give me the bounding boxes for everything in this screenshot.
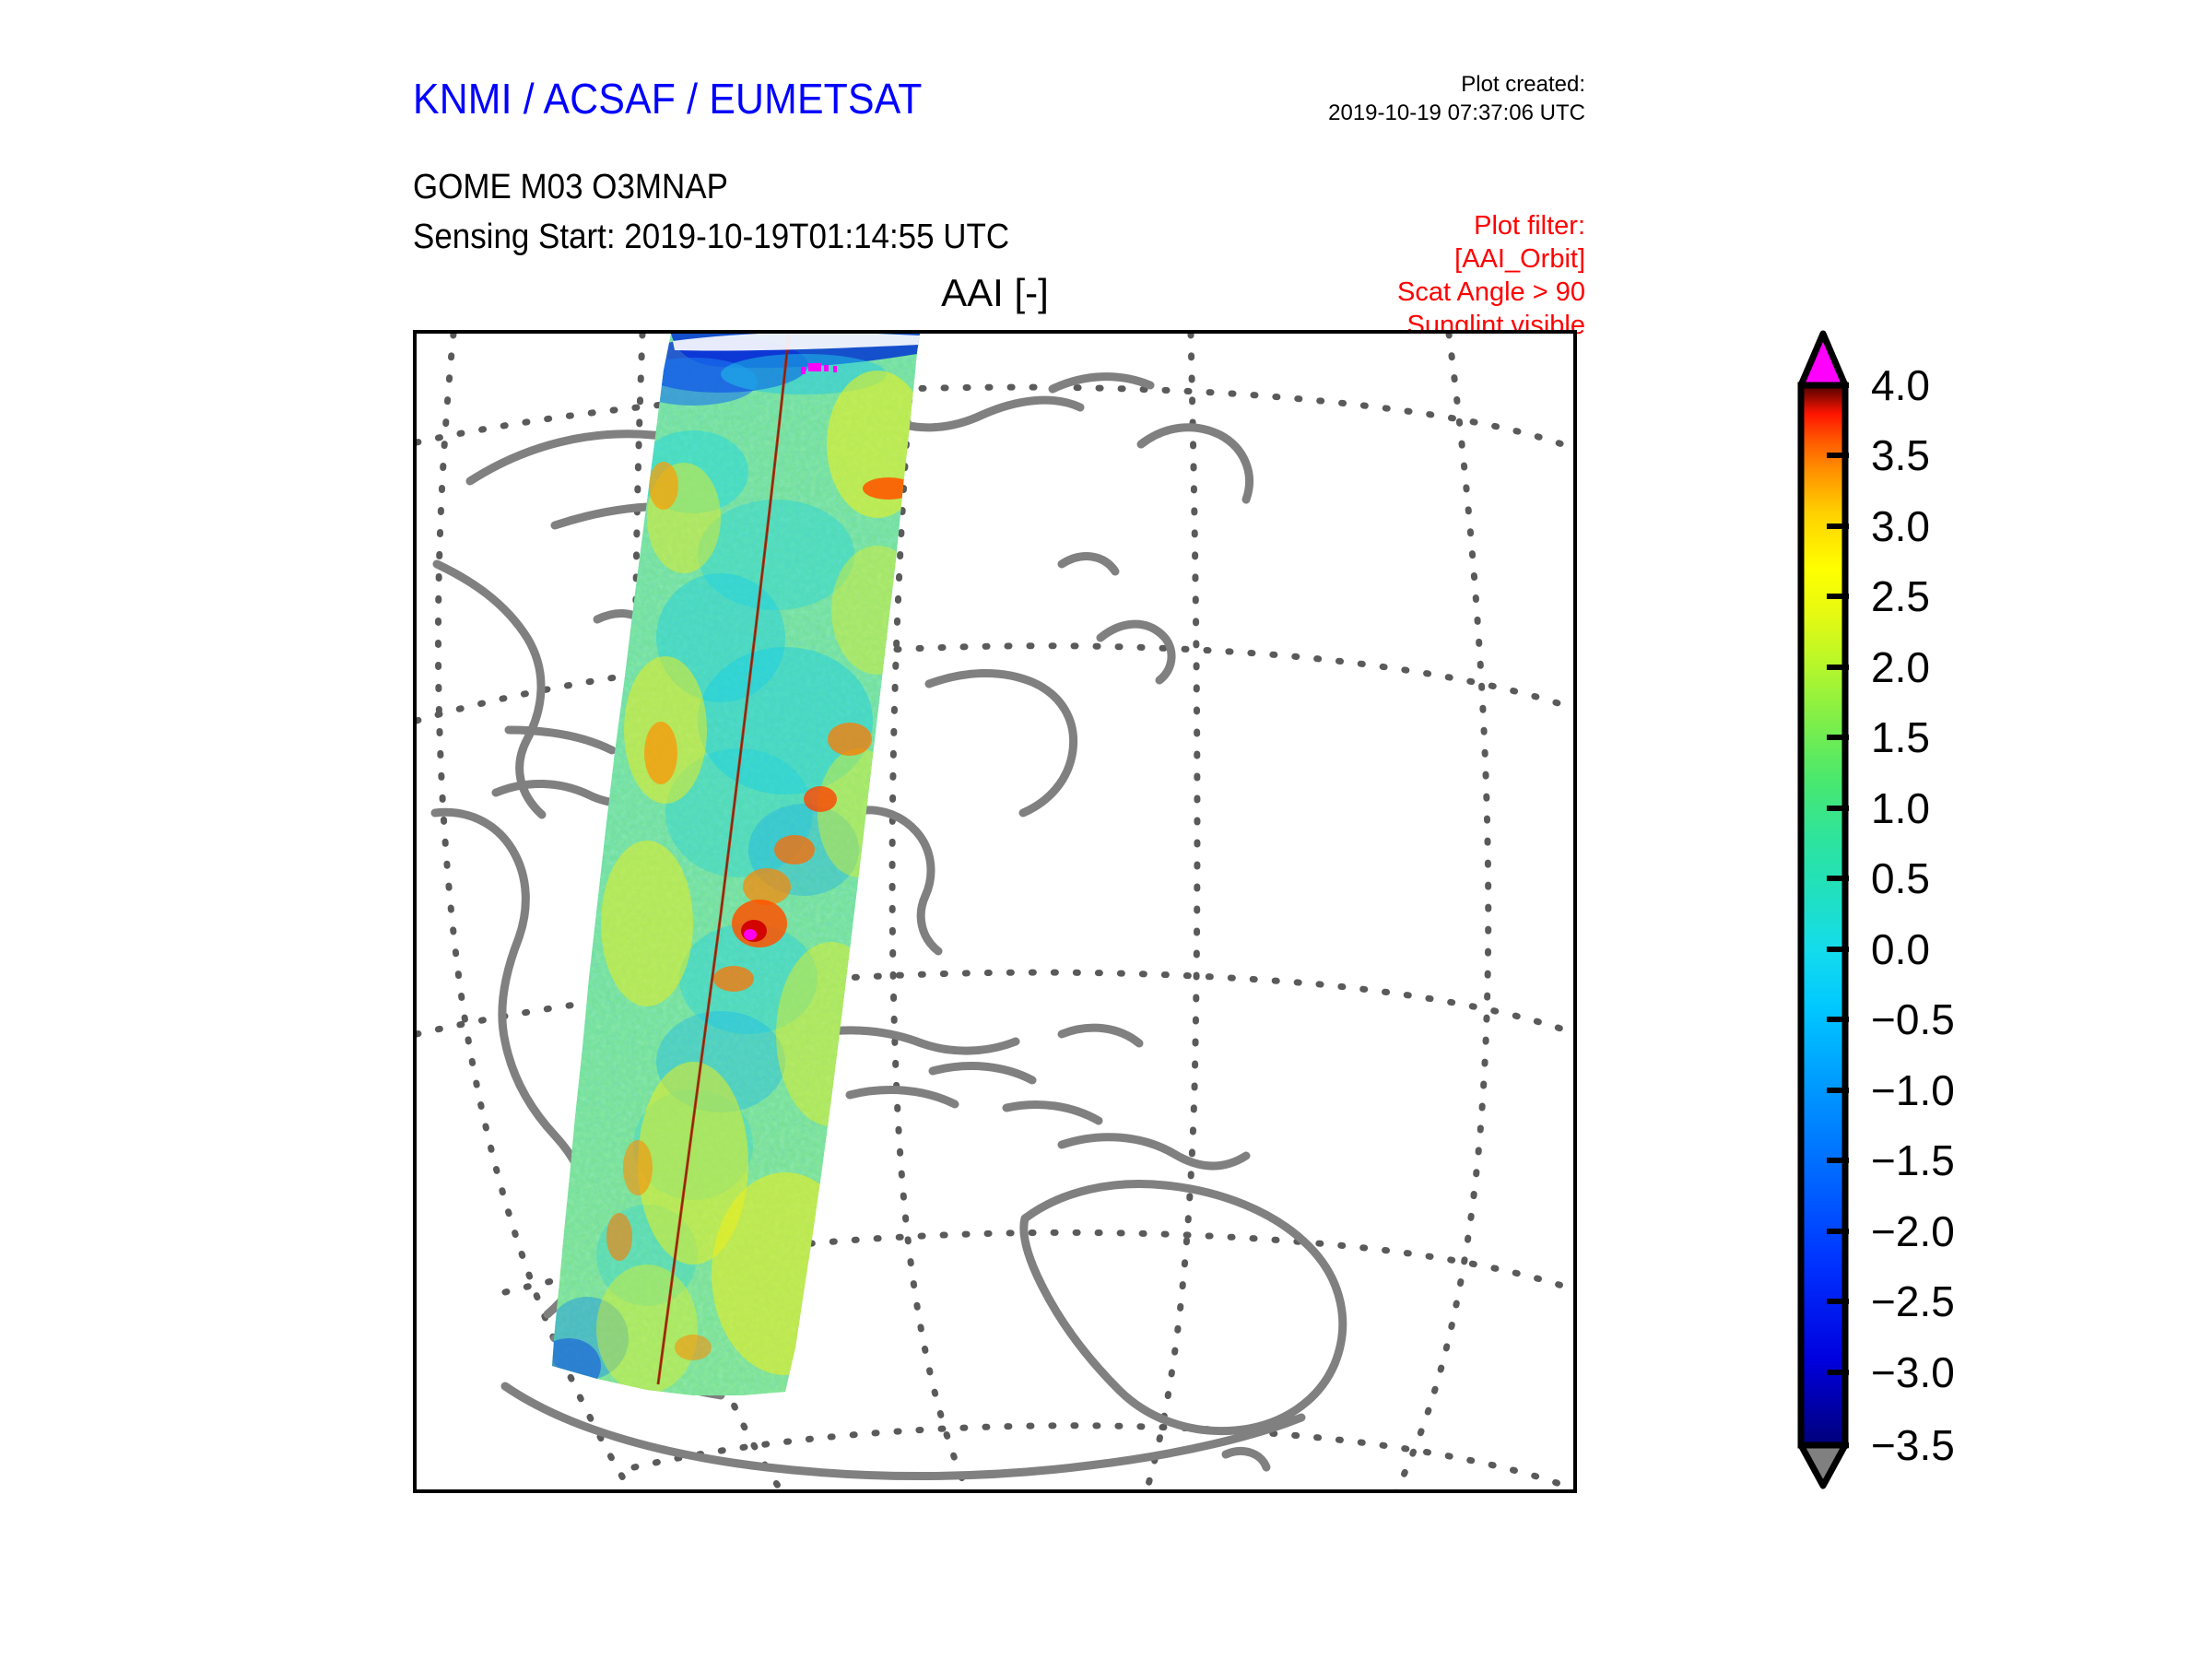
colorbar-tick-label: 0.5 [1871, 857, 1930, 900]
colorbar-tick-label: −0.5 [1871, 998, 1955, 1041]
colorbar-canvas [1792, 323, 2179, 1493]
map-plot-area [413, 330, 1577, 1493]
colorbar-tick-label: 1.5 [1871, 716, 1930, 759]
colorbar-tick-label: −3.5 [1871, 1424, 1955, 1466]
colorbar-tick-label: 4.0 [1871, 364, 1930, 406]
plot-title: AAI [-] [413, 271, 1577, 315]
sensing-start: Sensing Start: 2019-10-19T01:14:55 UTC [413, 218, 1009, 257]
satellite-swath [509, 334, 988, 1493]
colorbar-tick-label: 3.5 [1871, 434, 1930, 477]
colorbar-tick-label: 1.0 [1871, 787, 1930, 829]
colorbar: 4.0 3.5 3.0 2.5 2.0 1.5 1.0 0.5 0.0 −0.5… [1792, 323, 2179, 1493]
plot-filter-label: Plot filter: [1309, 210, 1585, 243]
colorbar-tick-label: −1.0 [1871, 1069, 1955, 1112]
plot-created-timestamp: 2019-10-19 07:37:06 UTC [1327, 99, 1585, 127]
organisation-title: KNMI / ACSAF / EUMETSAT [413, 74, 923, 124]
plot-created-block: Plot created: 2019-10-19 07:37:06 UTC [1327, 70, 1585, 127]
colorbar-tick-label: −3.0 [1871, 1351, 1955, 1394]
colorbar-tick-label: −2.0 [1871, 1210, 1955, 1253]
colorbar-gradient [1801, 385, 1845, 1445]
colorbar-tick-label: 2.0 [1871, 646, 1930, 688]
map-canvas [417, 334, 1577, 1493]
colorbar-under-arrow [1801, 1445, 1845, 1486]
dataset-name: GOME M03 O3MNAP [413, 168, 728, 207]
colorbar-tick-label: 2.5 [1871, 575, 1930, 618]
colorbar-tick-label: 3.0 [1871, 505, 1930, 547]
plot-created-label: Plot created: [1327, 70, 1585, 99]
colorbar-over-arrow [1801, 334, 1845, 385]
colorbar-tick-label: −1.5 [1871, 1139, 1955, 1182]
colorbar-tick-label: 0.0 [1871, 928, 1930, 971]
colorbar-tick-label: −2.5 [1871, 1280, 1955, 1323]
